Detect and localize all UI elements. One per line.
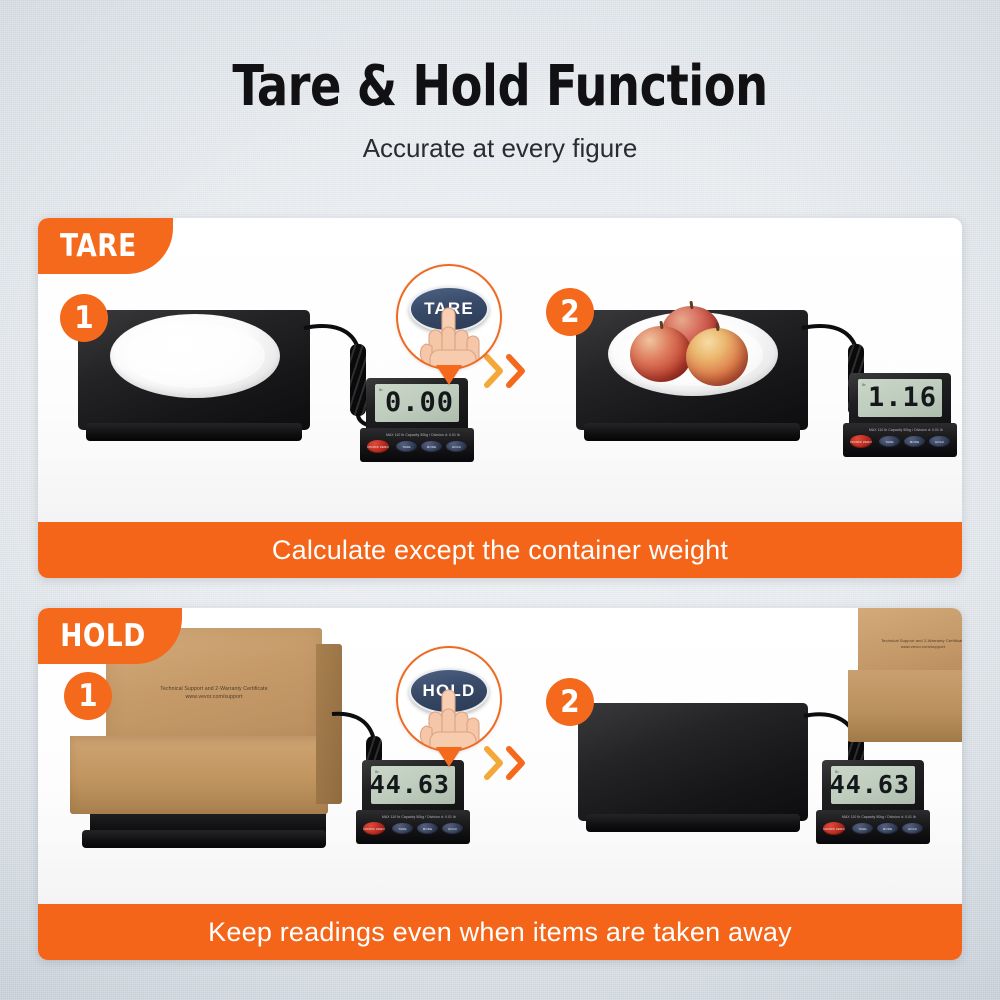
carton-print-line2: www.vevor.com/support	[106, 694, 322, 702]
tare-tab: TARE	[38, 218, 173, 274]
lcd-unit-tag: lb	[379, 387, 383, 392]
device-spec-strip: MAX 110 lb Capacity 50kg / Division d: 0…	[382, 815, 456, 819]
hold-tab-label: HOLD	[60, 618, 145, 654]
scale-base-hold-step2	[586, 814, 800, 832]
carton-box-removed: Technical Support and 2-Warranty Certifi…	[838, 608, 962, 754]
mode-key[interactable]: MODE	[877, 823, 898, 834]
weight-display-step2-tare: lb 1.16 MAX 110 lb Capacity 50kg / Divis…	[843, 373, 957, 459]
power-zero-button[interactable]: ON/OFF ZERO	[363, 822, 385, 835]
mode-key[interactable]: MODE	[421, 441, 442, 452]
carton-print-line1-removed: Technical Support and 2-Warranty Certifi…	[858, 638, 962, 644]
tare-key[interactable]: TARE	[396, 441, 417, 452]
power-zero-button[interactable]: ON/OFF ZERO	[823, 822, 845, 835]
step-badge-2-hold: 2	[546, 678, 594, 726]
power-zero-button[interactable]: ON/OFF ZERO	[367, 440, 389, 453]
tare-key-label: TARE	[392, 823, 413, 834]
scale-base-step1	[86, 423, 302, 441]
display-shell: lb 0.00	[366, 378, 468, 430]
panel-tare: lb 0.00 MAX 110 lb Capacity 50kg / Divis…	[38, 218, 962, 578]
carton-print-line1: Technical Support and 2-Warranty Certifi…	[106, 686, 322, 694]
header: Tare & Hold Function Accurate at every f…	[0, 58, 1000, 164]
step-badge-1-label: 1	[74, 300, 93, 336]
hold-key[interactable]: HOLD	[442, 823, 463, 834]
tare-caption-text: Calculate except the container weight	[272, 535, 728, 566]
page-title: Tare & Hold Function	[40, 58, 960, 117]
lcd-screen: lb 0.00	[375, 384, 459, 422]
hold-caption: Keep readings even when items are taken …	[38, 904, 962, 960]
weight-display-step1-hold: lb 44.63 MAX 110 lb Capacity 50kg / Divi…	[356, 760, 470, 846]
lcd-value: 44.63	[831, 772, 910, 797]
plate-inner	[125, 324, 264, 388]
mode-key-label: MODE	[421, 441, 442, 452]
weight-display-step1-tare: lb 0.00 MAX 110 lb Capacity 50kg / Divis…	[360, 378, 474, 464]
power-zero-label: ON/OFF ZERO	[367, 440, 389, 453]
step-badge-2-label: 2	[560, 684, 579, 720]
scale-hold-step2	[578, 703, 808, 821]
mode-key-label: MODE	[904, 436, 925, 447]
callout-pointer	[436, 747, 462, 767]
scale-base-step2	[584, 423, 800, 441]
power-zero-label: ON/OFF ZERO	[823, 822, 845, 835]
hold-stage: Technical Support and 2-Warranty Certifi…	[38, 608, 962, 904]
chevron-2-icon	[506, 354, 526, 388]
step-badge-1-hold: 1	[64, 672, 112, 720]
scale-base-hold-step1-lower	[82, 830, 326, 848]
hold-button-callout: HOLD	[396, 646, 502, 752]
mode-key[interactable]: MODE	[417, 823, 438, 834]
chevron-2-icon	[506, 746, 526, 780]
lcd-screen: lb 1.16	[858, 379, 942, 417]
display-base: MAX 110 lb Capacity 50kg / Division d: 0…	[843, 423, 957, 457]
mode-key-label: MODE	[877, 823, 898, 834]
device-spec-strip: MAX 110 lb Capacity 50kg / Division d: 0…	[869, 428, 943, 432]
power-zero-label: ON/OFF ZERO	[363, 822, 385, 835]
empty-plate	[110, 314, 280, 398]
hold-key-label: HOLD	[446, 441, 467, 452]
device-spec-strip: MAX 110 lb Capacity 50kg / Division d: 0…	[386, 433, 460, 437]
box-front-face-removed	[848, 670, 962, 742]
tare-key[interactable]: TARE	[879, 436, 900, 447]
device-spec-strip: MAX 110 lb Capacity 50kg / Division d: 0…	[842, 815, 916, 819]
display-base: MAX 110 lb Capacity 50kg / Division d: 0…	[816, 810, 930, 844]
hold-tab: HOLD	[38, 608, 182, 664]
tare-caption: Calculate except the container weight	[38, 522, 962, 578]
scale-platform	[578, 703, 808, 821]
display-shell: lb 44.63	[362, 760, 464, 812]
lcd-value: 0.00	[385, 389, 454, 416]
hold-key-label: HOLD	[442, 823, 463, 834]
carton-print-line2-removed: www.vevor.com/support	[858, 644, 962, 650]
step-badge-1-label: 1	[78, 678, 97, 714]
tare-key[interactable]: TARE	[392, 823, 413, 834]
lcd-unit-tag: lb	[862, 382, 866, 387]
callout-ring: HOLD	[396, 646, 502, 752]
tare-key[interactable]: TARE	[852, 823, 873, 834]
callout-pointer	[436, 365, 462, 385]
display-shell: lb 1.16	[849, 373, 951, 425]
display-base: MAX 110 lb Capacity 50kg / Division d: 0…	[356, 810, 470, 844]
callout-ring: TARE	[396, 264, 502, 370]
apple-stem	[659, 321, 663, 329]
hold-key[interactable]: HOLD	[929, 436, 950, 447]
hold-key[interactable]: HOLD	[902, 823, 923, 834]
power-zero-label: ON/OFF ZERO	[850, 435, 872, 448]
apple-stem	[715, 323, 719, 331]
step-badge-2-label: 2	[560, 294, 579, 330]
lcd-screen: lb 44.63	[831, 766, 915, 804]
page-subtitle: Accurate at every figure	[0, 133, 1000, 164]
display-base: MAX 110 lb Capacity 50kg / Division d: 0…	[360, 428, 474, 462]
tare-key-label: TARE	[879, 436, 900, 447]
panel-hold: Technical Support and 2-Warranty Certifi…	[38, 608, 962, 960]
apple-right	[686, 328, 748, 386]
apple-stem	[689, 301, 693, 309]
mode-key-label: MODE	[417, 823, 438, 834]
step-badge-1-tare: 1	[60, 294, 108, 342]
lcd-screen: lb 44.63	[371, 766, 455, 804]
hand-press-icon	[406, 682, 492, 752]
tare-key-label: TARE	[852, 823, 873, 834]
apple-left	[630, 326, 692, 382]
tare-key-label: TARE	[396, 441, 417, 452]
weight-display-step2-hold: lb 44.63 MAX 110 lb Capacity 50kg / Divi…	[816, 760, 930, 846]
display-shell: lb 44.63	[822, 760, 924, 812]
hold-key-label: HOLD	[929, 436, 950, 447]
tare-button-callout: TARE	[396, 264, 502, 370]
lcd-value: 1.16	[868, 384, 937, 411]
box-top-face-removed: Technical Support and 2-Warranty Certifi…	[858, 608, 962, 678]
mode-key[interactable]: MODE	[904, 436, 925, 447]
step-badge-2-tare: 2	[546, 288, 594, 336]
tare-stage: lb 0.00 MAX 110 lb Capacity 50kg / Divis…	[38, 218, 962, 522]
tare-tab-label: TARE	[60, 228, 137, 264]
hand-press-icon	[406, 300, 492, 370]
hold-key[interactable]: HOLD	[446, 441, 467, 452]
box-front-face	[70, 736, 328, 814]
hold-caption-text: Keep readings even when items are taken …	[208, 917, 792, 948]
hold-key-label: HOLD	[902, 823, 923, 834]
lcd-value: 44.63	[371, 772, 450, 797]
power-zero-button[interactable]: ON/OFF ZERO	[850, 435, 872, 448]
